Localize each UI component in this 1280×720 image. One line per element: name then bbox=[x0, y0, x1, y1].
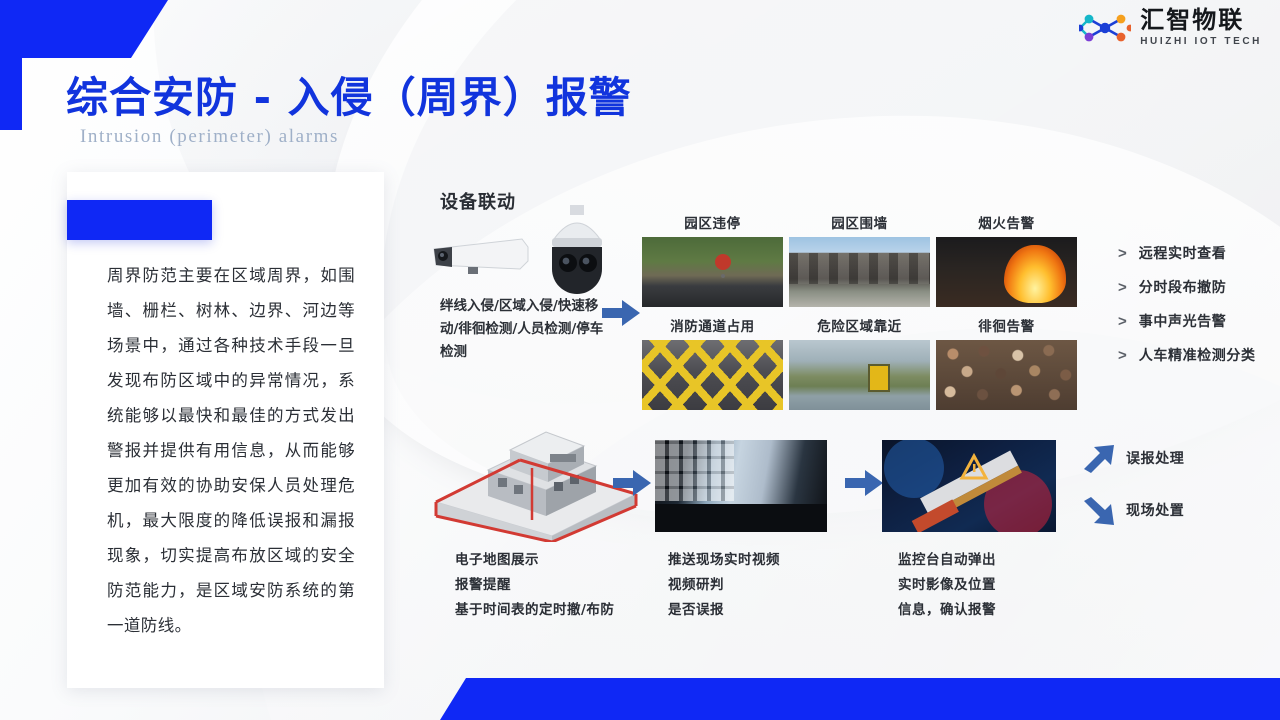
scenario-grid: 园区违停 园区围墙 烟火告警 消防通道占用 危险区域靠近 徘徊告警 bbox=[642, 212, 1082, 418]
scenario-thumbnail bbox=[789, 340, 930, 410]
scenario-thumbnail bbox=[642, 237, 783, 307]
scenario-thumbnail bbox=[936, 237, 1077, 307]
scenario-label: 危险区域靠近 bbox=[789, 315, 930, 335]
brand-logo: 汇智物联 HUIZHI IOT TECH bbox=[1079, 8, 1262, 47]
outcome-label-false-alarm: 误报处理 bbox=[1126, 448, 1184, 468]
scenario-label: 园区围墙 bbox=[789, 212, 930, 232]
arrow-right-icon-1 bbox=[602, 298, 640, 328]
outcome-label-onsite-handling: 现场处置 bbox=[1126, 500, 1184, 520]
scenario-cell[interactable]: 徘徊告警 bbox=[936, 315, 1077, 410]
arrow-right-icon-3 bbox=[845, 468, 883, 498]
arrow-right-icon-2 bbox=[613, 468, 651, 498]
chevron-right-icon: > bbox=[1118, 313, 1127, 330]
bullet-item[interactable]: > 远程实时查看 bbox=[1118, 236, 1256, 270]
scenario-label: 烟火告警 bbox=[936, 212, 1077, 232]
workflow-step-3-caption: 监控台自动弹出 实时影像及位置 信息，确认报警 bbox=[898, 548, 996, 623]
workflow-step-1-caption: 电子地图展示 报警提醒 基于时间表的定时撤/布防 bbox=[455, 548, 614, 623]
capability-bullet-list: > 远程实时查看 > 分时段布撤防 > 事中声光告警 > 人车精准检测分类 bbox=[1118, 236, 1256, 372]
camera-illustration bbox=[428, 205, 608, 300]
page-subtitle: Intrusion (perimeter) alarms bbox=[80, 126, 339, 148]
chevron-right-icon: > bbox=[1118, 245, 1127, 262]
molecule-nodes-icon bbox=[1079, 9, 1131, 47]
bullet-label: 分时段布撤防 bbox=[1139, 277, 1227, 297]
scenario-cell[interactable]: 危险区域靠近 bbox=[789, 315, 930, 410]
alert-popup-photo bbox=[882, 440, 1056, 532]
page-title: 综合安防 - 入侵（周界）报警 bbox=[66, 64, 632, 125]
scenario-label: 园区违停 bbox=[642, 212, 783, 232]
scenario-label: 徘徊告警 bbox=[936, 315, 1077, 335]
top-left-accent-shape bbox=[0, 0, 170, 58]
workflow-step-2-caption: 推送现场实时视频 视频研判 是否误报 bbox=[668, 548, 780, 623]
scenario-thumbnail bbox=[936, 340, 1077, 410]
control-room-photo bbox=[655, 440, 827, 532]
bullet-label: 人车精准检测分类 bbox=[1139, 345, 1256, 365]
scenario-row-1: 园区违停 园区围墙 烟火告警 bbox=[642, 212, 1082, 307]
bullet-item[interactable]: > 人车精准检测分类 bbox=[1118, 338, 1256, 372]
bullet-camera-icon bbox=[428, 235, 532, 275]
scenario-cell[interactable]: 园区围墙 bbox=[789, 212, 930, 307]
slide-canvas: 汇智物联 HUIZHI IOT TECH 综合安防 - 入侵（周界）报警 Int… bbox=[0, 0, 1280, 720]
bullet-item[interactable]: > 分时段布撤防 bbox=[1118, 270, 1256, 304]
chevron-right-icon: > bbox=[1118, 347, 1127, 364]
scenario-cell[interactable]: 园区违停 bbox=[642, 212, 783, 307]
bottom-accent-bar bbox=[440, 678, 1280, 720]
card-body-text: 周界防范主要在区域周界，如围墙、栅栏、树林、边界、河边等场景中，通过各种技术手段… bbox=[107, 258, 355, 643]
scenario-cell[interactable]: 消防通道占用 bbox=[642, 315, 783, 410]
bullet-item[interactable]: > 事中声光告警 bbox=[1118, 304, 1256, 338]
scenario-thumbnail bbox=[642, 340, 783, 410]
bullet-label: 事中声光告警 bbox=[1139, 311, 1227, 331]
bullet-label: 远程实时查看 bbox=[1139, 243, 1227, 263]
arrow-down-right-icon bbox=[1082, 495, 1116, 525]
brand-name-cn: 汇智物联 bbox=[1140, 8, 1262, 32]
building-3d-model-illustration bbox=[428, 424, 643, 542]
ptz-dome-camera-icon bbox=[540, 205, 614, 303]
scenario-row-2: 消防通道占用 危险区域靠近 徘徊告警 bbox=[642, 315, 1082, 410]
arrow-up-right-icon bbox=[1082, 443, 1116, 473]
left-edge-accent-shape bbox=[0, 0, 22, 130]
brand-name-en: HUIZHI IOT TECH bbox=[1140, 37, 1262, 47]
chevron-right-icon: > bbox=[1118, 279, 1127, 296]
card-badge bbox=[67, 200, 212, 240]
camera-caption: 绊线入侵/区域入侵/快速移动/徘徊检测/人员检测/停车检测 bbox=[440, 295, 610, 364]
scenario-cell[interactable]: 烟火告警 bbox=[936, 212, 1077, 307]
scenario-label: 消防通道占用 bbox=[642, 315, 783, 335]
scenario-thumbnail bbox=[789, 237, 930, 307]
